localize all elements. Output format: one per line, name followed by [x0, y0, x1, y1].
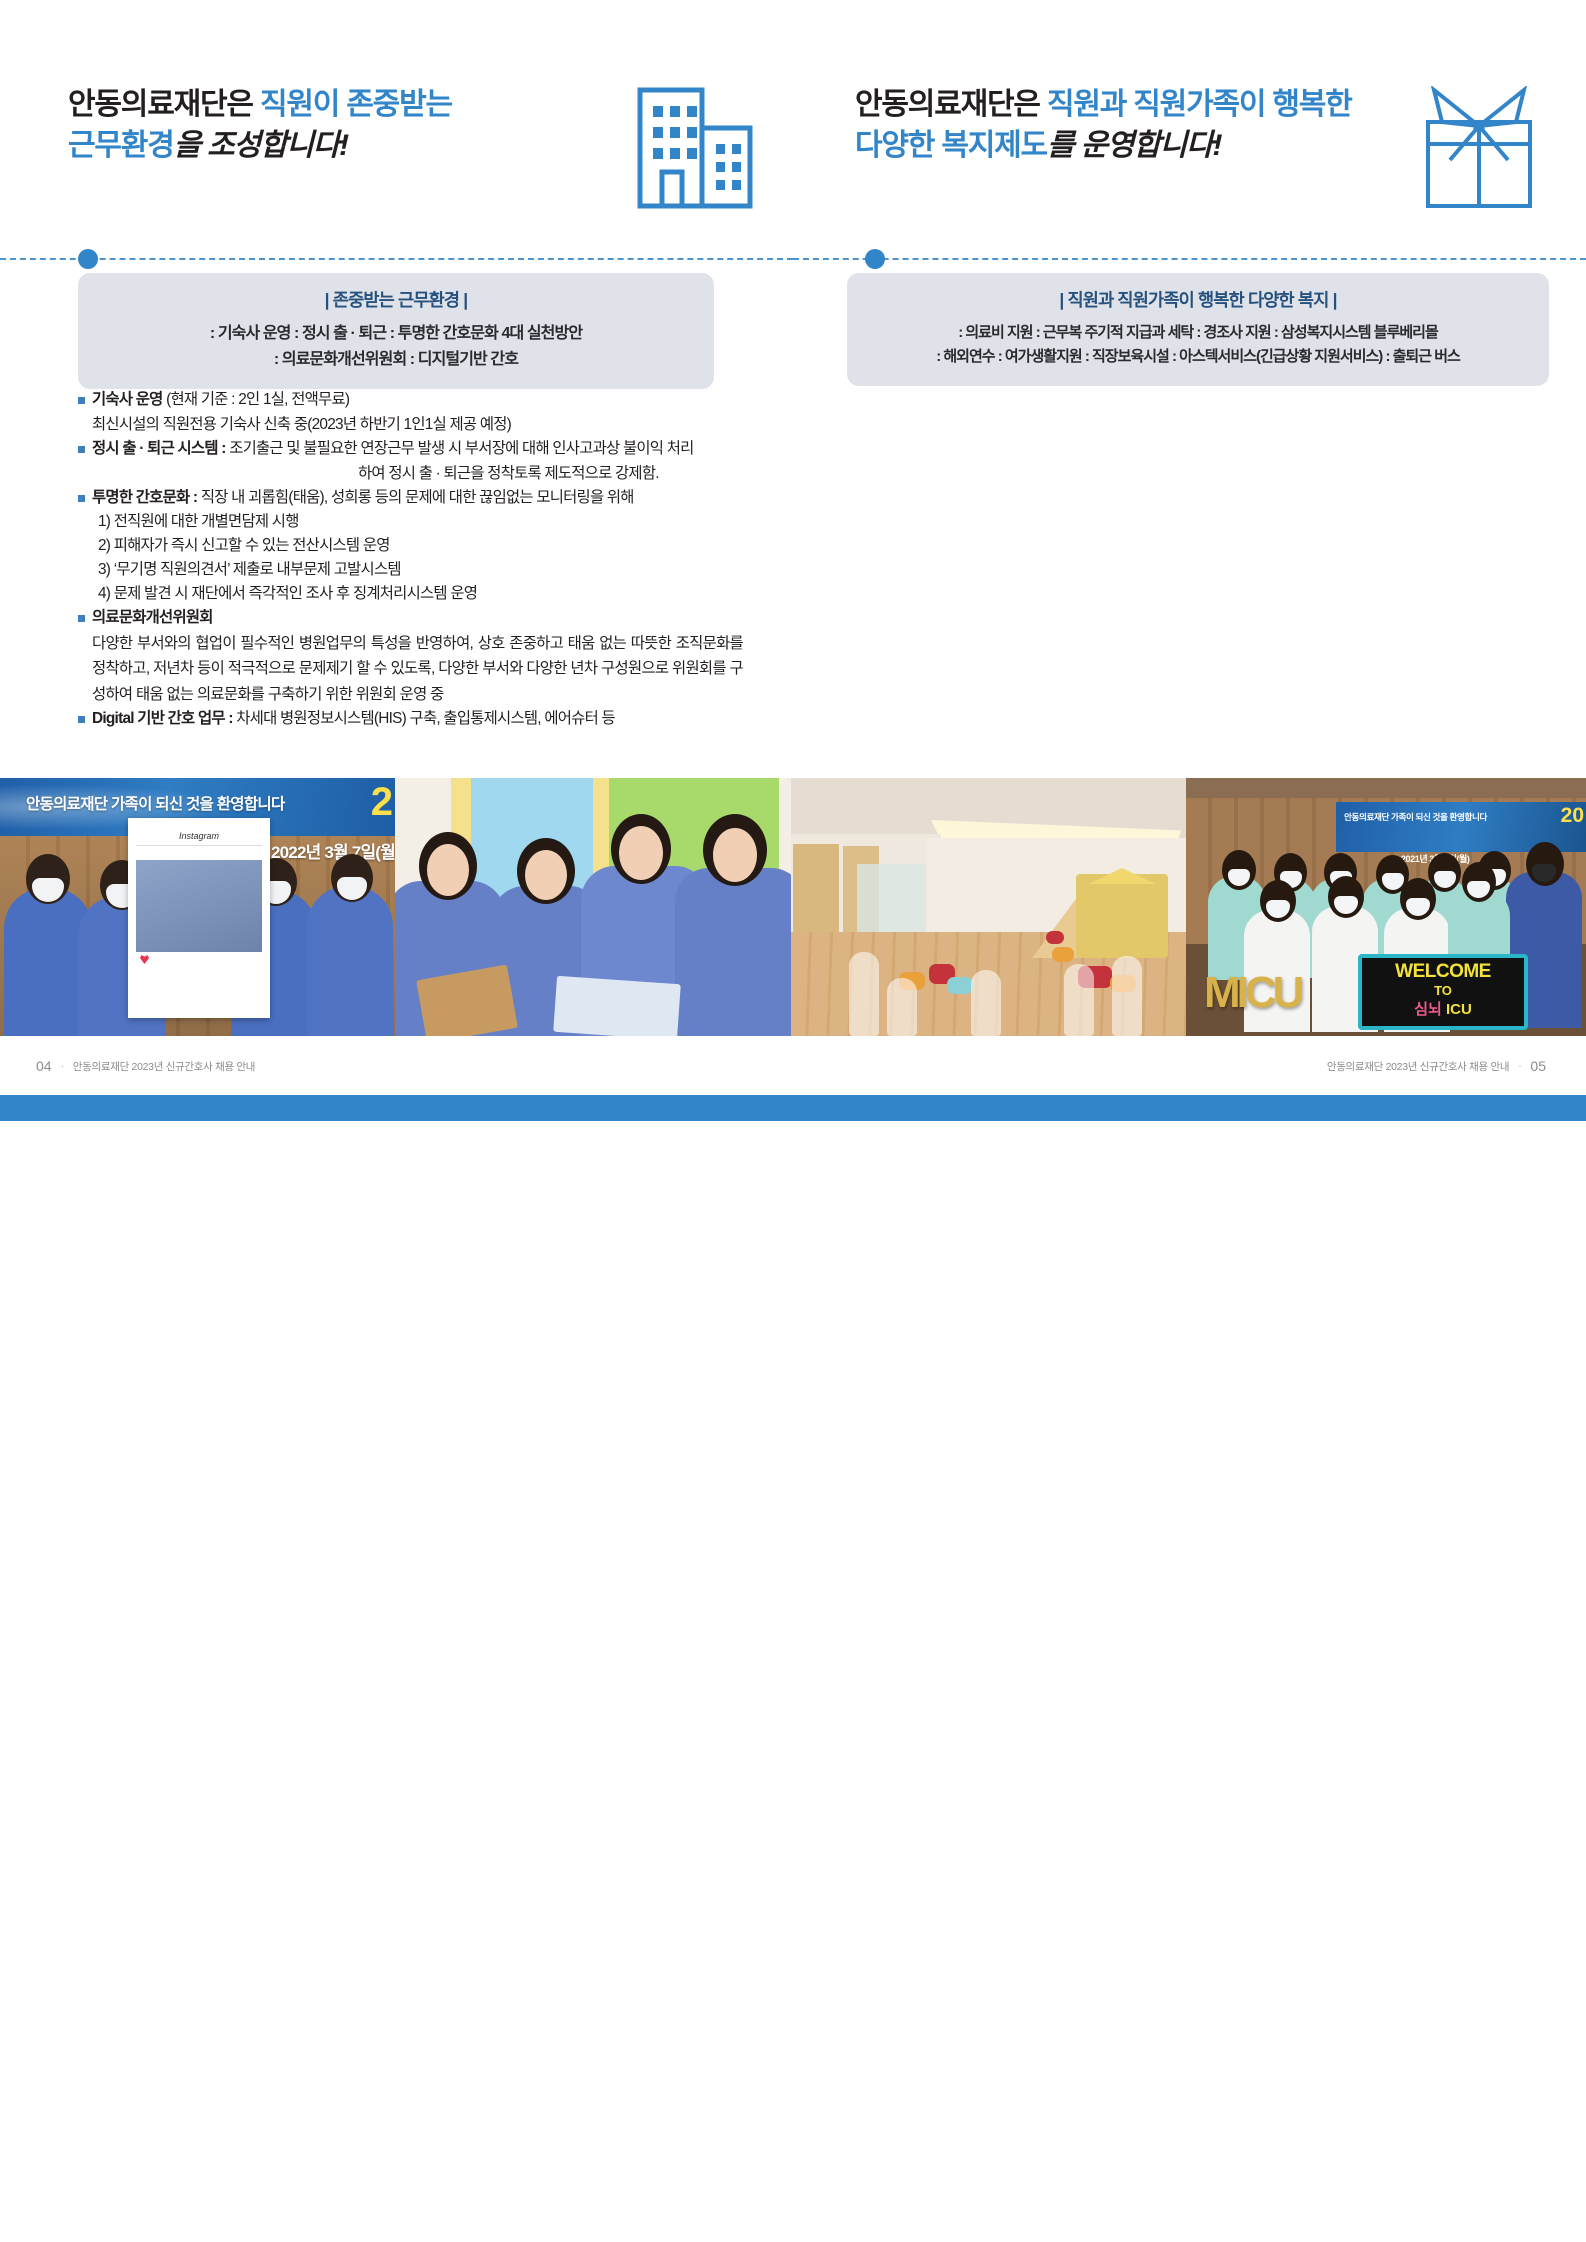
item-rest: 직장 내 괴롭힘(태움), 성희롱 등의 문제에 대한 끊임없는 모니터링을 위…: [201, 489, 634, 506]
list-subline: 하여 정시 출 · 퇴근을 정착토록 제도적으로 강제함.: [78, 462, 743, 486]
photo-micu-welcome-group-2021: 안동의료재단 가족이 되신 것을 환영합니다 20 | : 2021년 3월 8…: [1186, 778, 1586, 1036]
item-rest: (현재 기준 : 2인 1실, 전액무료): [163, 391, 350, 408]
ceremony-date: 2022년 3월 7일(월: [271, 838, 395, 863]
sign-line-2: TO: [1362, 983, 1524, 998]
sign-line-1: WELCOME: [1362, 961, 1524, 983]
sign-line-3-ko: 심뇌: [1414, 1001, 1446, 1018]
right-divider: [793, 249, 1586, 269]
list-item: Digital 기반 간호 업무 : 차세대 병원정보시스템(HIS) 구축, …: [78, 707, 743, 731]
rule-dot: [865, 249, 885, 269]
sign-line-3-en: ICU: [1446, 1001, 1472, 1018]
list-item: 정시 출 · 퇴근 시스템 : 조기출근 및 불필요한 연장근무 발생 시 부서…: [78, 437, 743, 461]
banner-year: 2: [371, 780, 391, 825]
building-icon: [631, 86, 757, 215]
gift-icon: [1420, 86, 1538, 215]
list-subline: 4) 문제 발견 시 재단에서 즉각적인 조사 후 징계처리시스템 운영: [78, 582, 743, 606]
list-paragraph: 다양한 부서와의 협업이 필수적인 병원업무의 특성을 반영하여, 상호 존중하…: [78, 631, 743, 707]
play-structure: [1076, 874, 1168, 958]
item-bold: 의료문화개선위원회: [92, 609, 213, 626]
instagram-frame-prop: Instagram: [128, 818, 270, 1018]
right-headline: 안동의료재단은 직원과 직원가족이 행복한 다양한 복지제도를 운영합니다!: [855, 84, 1352, 167]
right-headline-line2-dark: 를 운영합니다!: [1047, 129, 1221, 162]
item-rest: 조기출근 및 불필요한 연장근무 발생 시 부서장에 대해 인사고과상 불이익 …: [229, 440, 693, 457]
right-headline-row: 안동의료재단은 직원과 직원가족이 행복한 다양한 복지제도를 운영합니다!: [855, 84, 1538, 214]
frame-caption-area: [136, 952, 262, 1010]
sign-line-3: 심뇌 ICU: [1362, 998, 1524, 1019]
item-rest: 차세대 병원정보시스템(HIS) 구축, 출입통제시스템, 에어슈터 등: [236, 710, 615, 727]
right-headline-line1-blue: 직원과 직원가족이 행복한: [1047, 88, 1352, 121]
left-summary-box: | 존중받는 근무환경 | : 기숙사 운영 : 정시 출 · 퇴근 : 투명한…: [78, 273, 714, 389]
photo-daycare-center-interior: [791, 778, 1186, 1036]
left-summary-line-1: : 기숙사 운영 : 정시 출 · 퇴근 : 투명한 간호문화 4대 실천방안: [94, 321, 698, 347]
left-headline-line2-dark: 을 조성합니다!: [174, 129, 348, 162]
welcome-sign: WELCOME TO 심뇌 ICU: [1358, 954, 1528, 1030]
banner-text: 안동의료재단 가족이 되신 것을 환영합니다: [1344, 811, 1487, 823]
glass-partition: [857, 864, 937, 938]
right-summary-box: | 직원과 직원가족이 행복한 다양한 복지 | : 의료비 지원 : 근무복 …: [847, 273, 1549, 386]
instagram-brand-label: Instagram: [136, 826, 262, 846]
list-subline: 2) 피해자가 즉시 신고할 수 있는 전산시스템 운영: [78, 534, 743, 558]
left-content-list: 기숙사 운영 (현재 기준 : 2인 1실, 전액무료) 최신시설의 직원전용 …: [78, 388, 743, 732]
left-footer: 04 · 안동의료재단 2023년 신규간호사 채용 안내: [36, 1058, 255, 1074]
item-bold: 투명한 간호문화 :: [92, 489, 201, 506]
photo-welcome-ceremony-2022: 안동의료재단 가족이 되신 것을 환영합니다 2 2022년 3월 7일(월 I…: [0, 778, 395, 1036]
right-footer: 안동의료재단 2023년 신규간호사 채용 안내 · 05: [1327, 1058, 1546, 1074]
list-item: 투명한 간호문화 : 직장 내 괴롭힘(태움), 성희롱 등의 문제에 대한 끊…: [78, 486, 743, 510]
item-bold: 기숙사 운영: [92, 391, 163, 408]
footer-text: 안동의료재단 2023년 신규간호사 채용 안내: [1327, 1059, 1509, 1074]
right-summary-line-1: : 의료비 지원 : 근무복 주기적 지급과 세탁 : 경조사 지원 : 삼성복…: [863, 321, 1533, 345]
photo-nurses-chart-review: [395, 778, 791, 1036]
left-headline-line2-blue: 근무환경: [68, 129, 174, 162]
list-subline: 1) 전직원에 대한 개별면담제 시행: [78, 510, 743, 534]
balloon-letters: MICU: [1204, 968, 1300, 1018]
frame-window: [136, 860, 262, 956]
item-bold: 정시 출 · 퇴근 시스템 :: [92, 440, 229, 457]
footer-text: 안동의료재단 2023년 신규간호사 채용 안내: [73, 1059, 255, 1074]
item-bold: Digital 기반 간호 업무 :: [92, 710, 236, 727]
heart-icon: [140, 955, 149, 964]
list-subline: 3) ‘무기명 직원의견서’ 제출로 내부문제 고발시스템: [78, 558, 743, 582]
rule-dot: [78, 249, 98, 269]
left-summary-title: | 존중받는 근무환경 |: [94, 287, 698, 312]
footer-separator: ·: [61, 1060, 64, 1072]
dotted-rule: [793, 258, 1586, 260]
photo-strip: 안동의료재단 가족이 되신 것을 환영합니다 2 2022년 3월 7일(월 I…: [0, 778, 1586, 1036]
person: [675, 868, 791, 1036]
page-number: 04: [36, 1058, 52, 1074]
document-sheet: [553, 976, 681, 1036]
right-summary-line-2: : 해외연수 : 여가생활지원 : 직장보육시설 : 아스텍서비스(긴급상황 지…: [863, 345, 1533, 369]
right-headline-line1-dark: 안동의료재단은: [855, 88, 1047, 121]
left-headline-line1-dark: 안동의료재단은: [68, 88, 260, 121]
list-subline: 최신시설의 직원전용 기숙사 신축 중(2023년 하반기 1인1실 제공 예정…: [78, 413, 743, 437]
page-number: 05: [1530, 1058, 1546, 1074]
left-summary-line-2: : 의료문화개선위원회 : 디지털기반 간호: [94, 347, 698, 373]
person: [307, 886, 393, 1036]
footer-separator: ·: [1518, 1060, 1521, 1072]
list-item: 의료문화개선위원회: [78, 606, 743, 630]
banner-text: 안동의료재단 가족이 되신 것을 환영합니다: [26, 792, 285, 814]
left-headline: 안동의료재단은 직원이 존중받는 근무환경을 조성합니다!: [68, 84, 452, 167]
dotted-rule: [0, 258, 793, 260]
right-headline-line2-blue: 다양한 복지제도: [855, 129, 1047, 162]
list-item: 기숙사 운영 (현재 기준 : 2인 1실, 전액무료): [78, 388, 743, 412]
left-headline-row: 안동의료재단은 직원이 존중받는 근무환경을 조성합니다!: [68, 84, 757, 214]
right-summary-title: | 직원과 직원가족이 행복한 다양한 복지 |: [863, 287, 1533, 312]
banner-year: 20: [1561, 804, 1584, 828]
left-divider: [0, 249, 793, 269]
left-headline-line1-blue: 직원이 존중받는: [260, 88, 452, 121]
bottom-accent-bar: [0, 1095, 1586, 1121]
